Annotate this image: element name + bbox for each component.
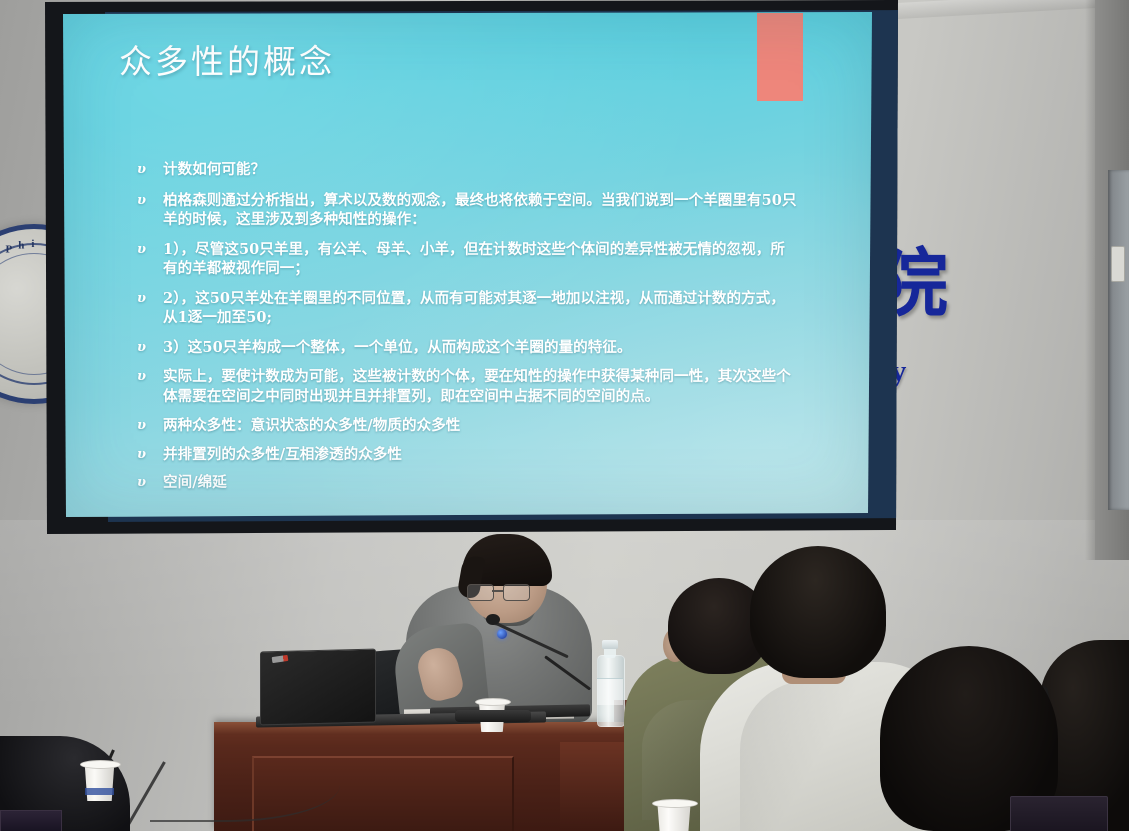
- bullet-marker-icon: υ: [137, 191, 163, 211]
- glasses-bridge: [492, 590, 503, 592]
- slide-bullet-item: υ 并排置列的众多性/互相渗透的众多性: [137, 445, 797, 465]
- slide-bullet-item: υ 两种众多性：意识状态的众多性/物质的众多性: [137, 416, 797, 436]
- slide-bullet-item: υ 实际上，要使计数成为可能，这些被计数的个体，要在知性的操作中获得某种同一性，…: [137, 367, 797, 406]
- paper-cup-left-band: [85, 788, 114, 795]
- audience-laptop-left[interactable]: [0, 810, 62, 831]
- slide-bullet-item: υ 3）这50只羊构成一个整体，一个单位，从而构成这个羊圈的量的特征。: [137, 338, 797, 358]
- slide-bullet-item: υ 计数如何可能？: [137, 160, 797, 180]
- slide-bullet-list: υ 计数如何可能？ υ 柏格森则通过分析指出，算术以及数的观念，最终也将依赖于空…: [137, 160, 797, 502]
- water-bottle-cap[interactable]: [602, 640, 618, 649]
- water-bottle-label: [597, 678, 623, 705]
- projected-slide: 众多性的概念 υ 计数如何可能？ υ 柏格森则通过分析指出，算术以及数的观念，最…: [63, 12, 872, 517]
- slide-bullet-item: υ 空间/绵延: [137, 473, 797, 493]
- light-switch-plate[interactable]: [1111, 246, 1125, 282]
- bullet-marker-icon: υ: [137, 289, 163, 309]
- bullet-text: 3）这50只羊构成一个整体，一个单位，从而构成这个羊圈的量的特征。: [163, 338, 797, 358]
- audience-laptop-right[interactable]: [1010, 796, 1108, 831]
- paper-cup-podium-rim: [475, 698, 511, 706]
- slide-accent-bar: [757, 13, 803, 101]
- glasses-left-lens: [467, 584, 494, 601]
- bullet-marker-icon: υ: [137, 338, 163, 358]
- slide-bullet-item: υ 1），尽管这50只羊里，有公羊、母羊、小羊，但在计数时这些个体间的差异性被无…: [137, 240, 797, 279]
- audience-white-shirt-shadow: [740, 680, 860, 831]
- bullet-text: 空间/绵延: [163, 473, 797, 493]
- slide-bullet-item: υ 柏格森则通过分析指出，算术以及数的观念，最终也将依赖于空间。当我们说到一个羊…: [137, 191, 797, 230]
- bullet-marker-icon: υ: [137, 367, 163, 387]
- speaker-badge: [497, 629, 507, 639]
- bullet-marker-icon: υ: [137, 240, 163, 260]
- bullet-marker-icon: υ: [137, 160, 163, 180]
- bullet-text: 两种众多性：意识状态的众多性/物质的众多性: [163, 416, 797, 436]
- audience-white-shirt-head: [750, 546, 886, 678]
- bullet-text: 1），尽管这50只羊里，有公羊、母羊、小羊，但在计数时这些个体间的差异性被无情的…: [163, 240, 797, 279]
- paper-cup-front-rim: [652, 799, 698, 808]
- paper-cup-left-rim: [80, 760, 121, 769]
- seal-letter: P: [6, 244, 14, 256]
- bullet-text: 柏格森则通过分析指出，算术以及数的观念，最终也将依赖于空间。当我们说到一个羊圈里…: [163, 191, 797, 230]
- bullet-text: 并排置列的众多性/互相渗透的众多性: [163, 445, 797, 465]
- bullet-text: 计数如何可能？: [163, 160, 797, 180]
- slide-title: 众多性的概念: [119, 42, 335, 82]
- bullet-text: 实际上，要使计数成为可能，这些被计数的个体，要在知性的操作中获得某种同一性，其次…: [163, 367, 797, 406]
- slide-bullet-item: υ 2），这50只羊处在羊圈里的不同位置，从而有可能对其逐一地加以注视，从而通过…: [137, 289, 797, 328]
- bullet-text: 2），这50只羊处在羊圈里的不同位置，从而有可能对其逐一地加以注视，从而通过计数…: [163, 289, 797, 328]
- bullet-marker-icon: υ: [137, 445, 163, 465]
- seal-letter: h: [18, 240, 25, 252]
- lecture-hall-scene: S c h o o l o f P h i 北大 院 ity 众多性的概念 υ …: [0, 0, 1129, 831]
- microphone-capsule-icon: [486, 614, 500, 625]
- microphone-base: [455, 710, 531, 722]
- seal-letter: i: [31, 238, 35, 250]
- bullet-marker-icon: υ: [137, 416, 163, 436]
- bullet-marker-icon: υ: [137, 473, 163, 493]
- glasses-right-lens: [503, 584, 530, 601]
- speaker-glasses-icon: [467, 584, 533, 599]
- door-frame: [1108, 170, 1129, 510]
